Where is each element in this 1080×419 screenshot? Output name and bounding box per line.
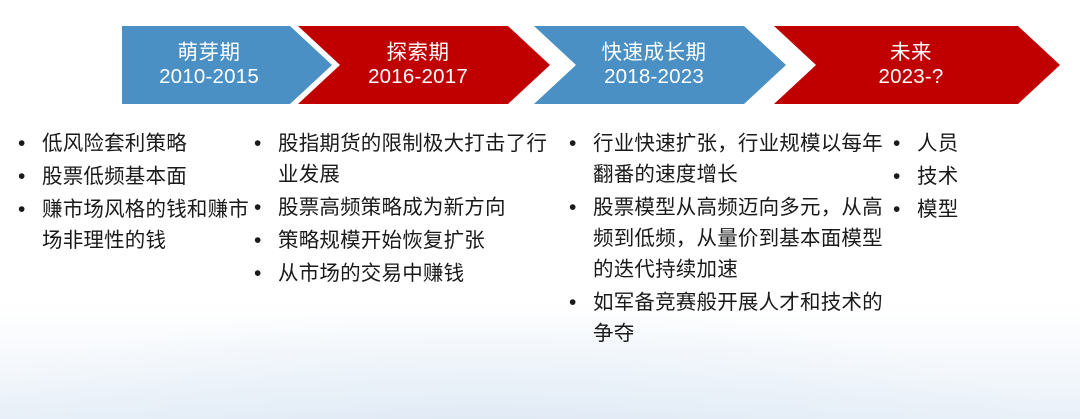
list-item-label: 技术 bbox=[917, 161, 1063, 192]
timeline-phase-3[interactable]: 快速成长期 2018-2023 bbox=[534, 26, 786, 104]
list-item: •技术 bbox=[893, 161, 1063, 192]
list-item: •行业快速扩张，行业规模以每年翻番的速度增长 bbox=[569, 128, 891, 190]
list-item-label: 策略规模开始恢复扩张 bbox=[278, 225, 554, 256]
phase-4-bullet-list: •人员•技术•模型 bbox=[893, 128, 1063, 227]
bullet-point-icon: • bbox=[254, 225, 278, 256]
list-item-label: 模型 bbox=[917, 194, 1063, 225]
phase-2-bullet-list: •股指期货的限制极大打击了行业发展•股票高频策略成为新方向•策略规模开始恢复扩张… bbox=[254, 128, 554, 291]
list-item-label: 股指期货的限制极大打击了行业发展 bbox=[278, 128, 554, 190]
list-item-label: 从市场的交易中赚钱 bbox=[278, 258, 554, 289]
bullet-point-icon: • bbox=[254, 128, 278, 159]
list-item-label: 股票低频基本面 bbox=[42, 161, 250, 192]
list-item: •赚市场风格的钱和赚市场非理性的钱 bbox=[18, 194, 250, 256]
timeline-phase-2-title: 探索期 bbox=[368, 41, 468, 65]
timeline-phase-4[interactable]: 未来 2023-? bbox=[774, 26, 1060, 104]
timeline-phase-3-title: 快速成长期 bbox=[602, 41, 707, 65]
bullet-point-icon: • bbox=[893, 128, 917, 159]
timeline-phase-4-content: 未来 2023-? bbox=[878, 41, 943, 89]
bullet-point-icon: • bbox=[569, 192, 593, 223]
timeline-phase-1-range: 2010-2015 bbox=[159, 65, 259, 89]
list-item: •股指期货的限制极大打击了行业发展 bbox=[254, 128, 554, 190]
bullet-point-icon: • bbox=[18, 194, 42, 225]
bullet-point-icon: • bbox=[569, 287, 593, 318]
bullet-point-icon: • bbox=[569, 128, 593, 159]
timeline-phase-1-title: 萌芽期 bbox=[159, 41, 259, 65]
phase-detail-columns: •低风险套利策略•股票低频基本面•赚市场风格的钱和赚市场非理性的钱 •股指期货的… bbox=[0, 128, 1080, 419]
bullet-point-icon: • bbox=[18, 128, 42, 159]
slide-canvas: 萌芽期 2010-2015 探索期 2016-2017 快速成长期 2018-2… bbox=[0, 0, 1080, 419]
list-item: •股票模型从高频迈向多元，从高频到低频，从量价到基本面模型的迭代持续加速 bbox=[569, 192, 891, 285]
phase-3-bullet-list: •行业快速扩张，行业规模以每年翻番的速度增长•股票模型从高频迈向多元，从高频到低… bbox=[569, 128, 891, 351]
timeline-phase-1[interactable]: 萌芽期 2010-2015 bbox=[122, 26, 332, 104]
bullet-point-icon: • bbox=[18, 161, 42, 192]
list-item-label: 人员 bbox=[917, 128, 1063, 159]
list-item-label: 行业快速扩张，行业规模以每年翻番的速度增长 bbox=[593, 128, 891, 190]
timeline-phase-3-range: 2018-2023 bbox=[602, 65, 707, 89]
timeline-phase-3-content: 快速成长期 2018-2023 bbox=[602, 41, 707, 89]
bullet-point-icon: • bbox=[254, 258, 278, 289]
list-item-label: 股票高频策略成为新方向 bbox=[278, 192, 554, 223]
timeline-phase-2[interactable]: 探索期 2016-2017 bbox=[298, 26, 550, 104]
timeline-phase-2-range: 2016-2017 bbox=[368, 65, 468, 89]
bullet-point-icon: • bbox=[893, 194, 917, 225]
list-item: •人员 bbox=[893, 128, 1063, 159]
list-item-label: 赚市场风格的钱和赚市场非理性的钱 bbox=[42, 194, 250, 256]
list-item: •低风险套利策略 bbox=[18, 128, 250, 159]
list-item-label: 如军备竞赛般开展人才和技术的争夺 bbox=[593, 287, 891, 349]
bullet-point-icon: • bbox=[893, 161, 917, 192]
timeline-phase-4-range: 2023-? bbox=[878, 65, 943, 89]
timeline-phase-2-content: 探索期 2016-2017 bbox=[368, 41, 468, 89]
list-item: •股票高频策略成为新方向 bbox=[254, 192, 554, 223]
list-item-label: 股票模型从高频迈向多元，从高频到低频，从量价到基本面模型的迭代持续加速 bbox=[593, 192, 891, 285]
list-item-label: 低风险套利策略 bbox=[42, 128, 250, 159]
list-item: •模型 bbox=[893, 194, 1063, 225]
phase-1-bullet-list: •低风险套利策略•股票低频基本面•赚市场风格的钱和赚市场非理性的钱 bbox=[18, 128, 250, 258]
list-item: •从市场的交易中赚钱 bbox=[254, 258, 554, 289]
timeline-phase-4-title: 未来 bbox=[878, 41, 943, 65]
list-item: •如军备竞赛般开展人才和技术的争夺 bbox=[569, 287, 891, 349]
timeline-phase-1-content: 萌芽期 2010-2015 bbox=[159, 41, 259, 89]
bullet-point-icon: • bbox=[254, 192, 278, 223]
list-item: •策略规模开始恢复扩张 bbox=[254, 225, 554, 256]
list-item: •股票低频基本面 bbox=[18, 161, 250, 192]
timeline-chevron-band: 萌芽期 2010-2015 探索期 2016-2017 快速成长期 2018-2… bbox=[0, 26, 1080, 104]
